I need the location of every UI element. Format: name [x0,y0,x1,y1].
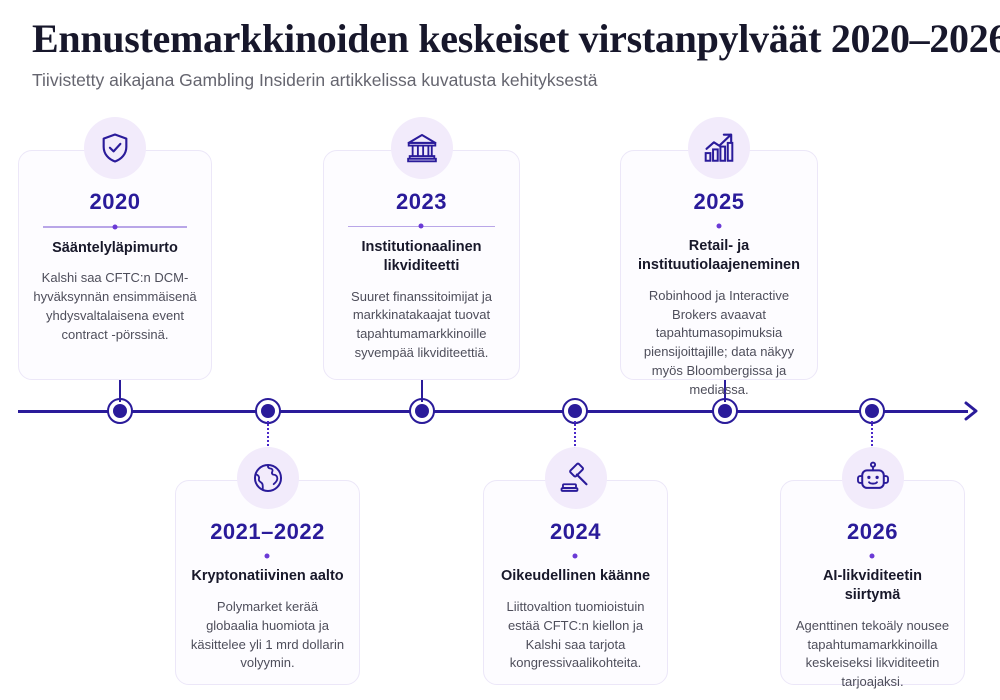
card-year: 2020 [90,189,141,215]
card-heading: Kryptonatiivinen aalto [191,567,343,586]
chart-growth-icon [688,117,750,179]
page-title: Ennustemarkkinoiden keskeiset virstanpyl… [32,18,972,60]
connector-stem-2021-2022 [267,421,269,449]
card-heading: Sääntelyläpimurto [52,239,178,258]
milestone-card-2023[interactable]: 2023 Institutionaalinen likviditeetti Su… [323,150,520,380]
timeline-axis [18,410,968,413]
robot-icon [842,447,904,509]
card-year: 2026 [847,519,898,545]
card-year: 2023 [396,189,447,215]
connector-stem-2024 [574,421,576,449]
card-year: 2021–2022 [210,519,325,545]
card-body: Robinhood ja Interactive Brokers avaavat… [635,287,803,400]
card-divider [43,226,187,228]
header: Ennustemarkkinoiden keskeiset virstanpyl… [32,18,972,91]
connector-stem-2020 [119,380,121,402]
connector-stem-2023 [421,380,423,402]
card-heading: AI-likviditeetin siirtymä [795,567,950,605]
card-year: 2024 [550,519,601,545]
milestone-card-2021-2022[interactable]: 2021–2022 Kryptonatiivinen aalto Polymar… [175,480,360,685]
shield-check-icon [84,117,146,179]
arrow-right-icon [962,400,984,422]
connector-stem-2026 [871,421,873,449]
card-body: Kalshi saa CFTC:n DCM-hyväksynnän ensimm… [33,269,197,344]
globe-icon [237,447,299,509]
card-heading: Oikeudellinen käänne [501,567,650,586]
milestone-card-2024[interactable]: 2024 Oikeudellinen käänne Liittovaltion … [483,480,668,685]
card-body: Liittovaltion tuomioistuin estää CFTC:n … [498,598,653,673]
card-heading: Institutionaalinen likviditeetti [338,238,505,276]
bank-icon [391,117,453,179]
card-year: 2025 [694,189,745,215]
milestone-card-2020[interactable]: 2020 Sääntelyläpimurto Kalshi saa CFTC:n… [18,150,212,380]
card-body: Polymarket kerää globaalia huomiota ja k… [190,598,345,673]
card-body: Agenttinen tekoäly nousee tapahtumamarkk… [795,617,950,692]
card-body: Suuret finanssitoimijat ja markkinatakaa… [338,288,505,363]
gavel-icon [545,447,607,509]
card-divider [348,226,495,227]
milestone-card-2026[interactable]: 2026 AI-likviditeetin siirtymä Agenttine… [780,480,965,685]
card-heading: Retail- ja instituutiolaajeneminen [635,237,803,275]
page-subtitle: Tiivistetty aikajana Gambling Insiderin … [32,70,972,91]
milestone-card-2025[interactable]: 2025 Retail- ja instituutiolaajeneminen … [620,150,818,380]
